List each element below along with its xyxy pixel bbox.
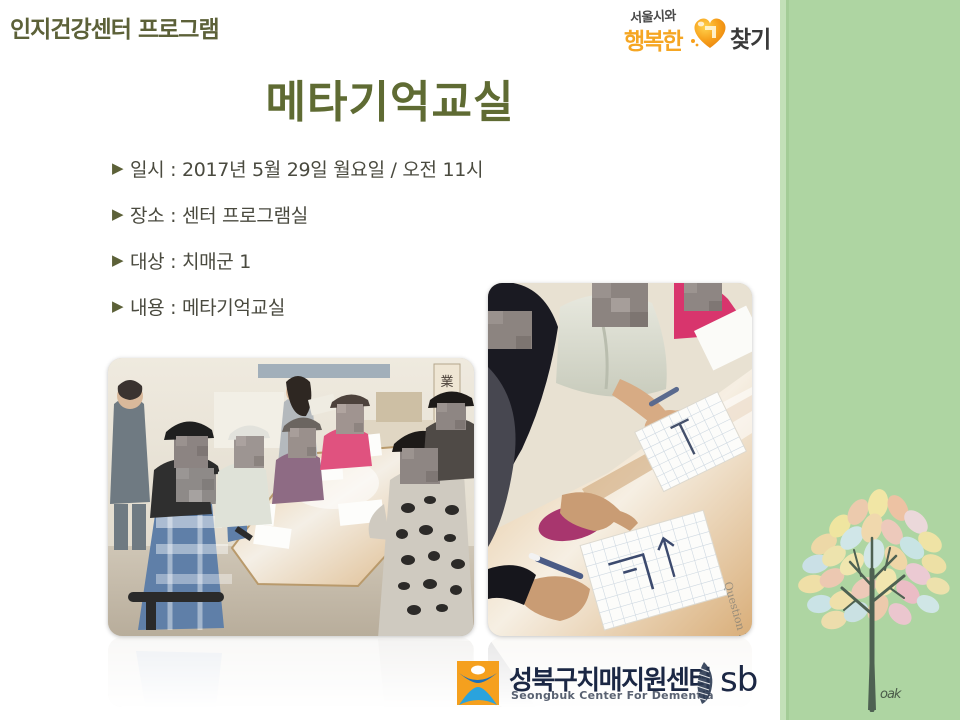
pastel-tree-icon — [786, 452, 958, 712]
list-item-label: 일시 : 2017년 5월 29일 월요일 / 오전 11시 — [130, 155, 483, 182]
page-title: 인지건강센터 프로그램 — [10, 10, 219, 44]
classroom-group-photo: 業 坐 — [108, 358, 474, 636]
main-heading: 메타기억교실 — [0, 66, 780, 130]
sb-logo-mark: sb — [690, 658, 775, 708]
tree-signature: oak — [880, 687, 900, 702]
slide-canvas: oak 인지건강센터 프로그램 서울시와 행복한 찾기 — [0, 0, 960, 720]
list-item: ▶ 장소 : 센터 프로그램실 — [112, 201, 732, 227]
footer-center-name-en: Seongbuk Center For Dementia — [511, 689, 714, 702]
triangle-bullet-icon: ▶ — [112, 253, 130, 268]
orange-heart-icon — [690, 14, 730, 50]
worksheet-closeup-photo: Question 2 — [488, 283, 752, 636]
seoul-logo-line2: 행복한 — [624, 22, 681, 56]
sb-logo-text: sb — [720, 660, 757, 700]
triangle-bullet-icon: ▶ — [112, 161, 130, 176]
seongbuk-emblem-icon — [455, 661, 501, 707]
list-item-label: 장소 : 센터 프로그램실 — [130, 201, 308, 228]
footer-logo: 성북구치매지원센터 Seongbuk Center For Dementia s… — [455, 658, 775, 714]
list-item-label: 대상 : 치매군 1 — [130, 247, 251, 274]
decorative-sidebar: oak — [780, 0, 960, 720]
list-item: ▶ 대상 : 치매군 1 — [112, 247, 732, 273]
list-item: ▶ 일시 : 2017년 5월 29일 월요일 / 오전 11시 — [112, 155, 732, 181]
triangle-bullet-icon: ▶ — [112, 299, 130, 314]
seoul-logo-line3: 찾기 — [730, 20, 770, 54]
photo-reflection — [108, 637, 474, 707]
list-item-label: 내용 : 메타기억교실 — [130, 293, 285, 320]
svg-text:業: 業 — [440, 374, 453, 390]
triangle-bullet-icon: ▶ — [112, 207, 130, 222]
seoul-city-logo: 서울시와 행복한 찾기 — [622, 6, 778, 54]
reflection-fade — [108, 637, 474, 707]
